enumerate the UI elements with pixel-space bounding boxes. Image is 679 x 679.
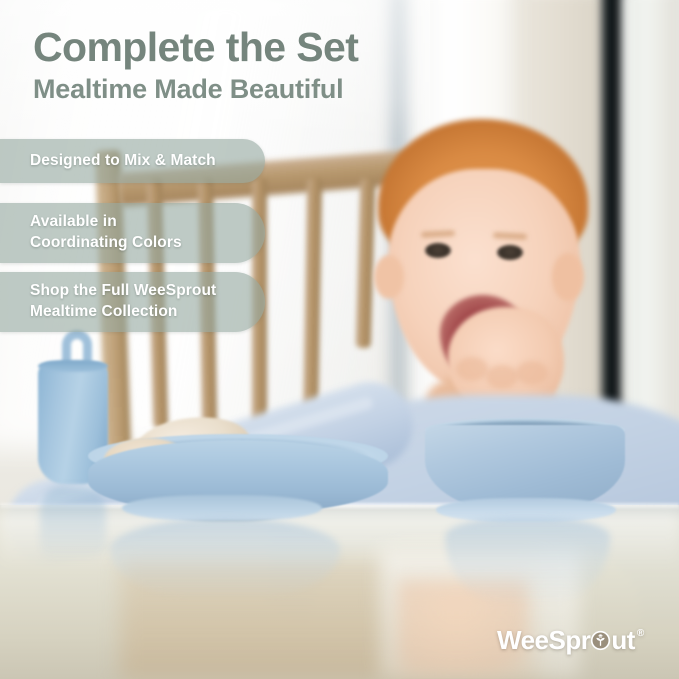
feature-pill-text: Available in Coordinating Colors	[30, 212, 182, 253]
feature-pill-line2: Coordinating Colors	[30, 234, 182, 251]
child-eye-right	[497, 245, 523, 260]
feature-pill-text: Designed to Mix & Match	[30, 151, 216, 172]
page-title: Complete the Set	[33, 24, 358, 71]
child-knuckle	[486, 365, 518, 389]
child-ear-right	[552, 253, 584, 301]
feature-pill-shop-collection[interactable]: Shop the Full WeeSprout Mealtime Collect…	[0, 272, 265, 332]
child-knuckle	[456, 357, 488, 381]
feature-pill-coordinating-colors[interactable]: Available in Coordinating Colors	[0, 203, 265, 263]
sippy-cup-reflection	[40, 487, 106, 559]
sippy-cup-rim	[38, 360, 108, 372]
brand-logo[interactable]: WeeSpr ut ®	[497, 625, 644, 656]
divided-plate-reflection	[110, 518, 340, 596]
child-knuckle	[516, 361, 548, 385]
feature-pill-mix-and-match[interactable]: Designed to Mix & Match	[0, 139, 265, 183]
product-marketing-image: Complete the Set Mealtime Made Beautiful…	[0, 0, 679, 679]
brand-logo-text-after: ut	[611, 625, 635, 656]
page-subtitle: Mealtime Made Beautiful	[33, 74, 343, 105]
feature-pill-text: Shop the Full WeeSprout Mealtime Collect…	[30, 281, 216, 322]
brand-logo-text-before: WeeSpr	[497, 625, 590, 656]
feature-pill-line1: Shop the Full WeeSprout	[30, 282, 216, 299]
child-eye-left	[425, 243, 451, 258]
registered-trademark-symbol: ®	[637, 628, 644, 639]
child-ear-left	[374, 255, 404, 299]
sprout-in-circle-icon	[590, 627, 611, 648]
feature-pill-line1: Designed to Mix & Match	[30, 152, 216, 169]
feature-pill-line2: Mealtime Collection	[30, 303, 177, 320]
feature-pill-line1: Available in	[30, 213, 117, 230]
suction-bowl-reflection	[445, 518, 610, 602]
